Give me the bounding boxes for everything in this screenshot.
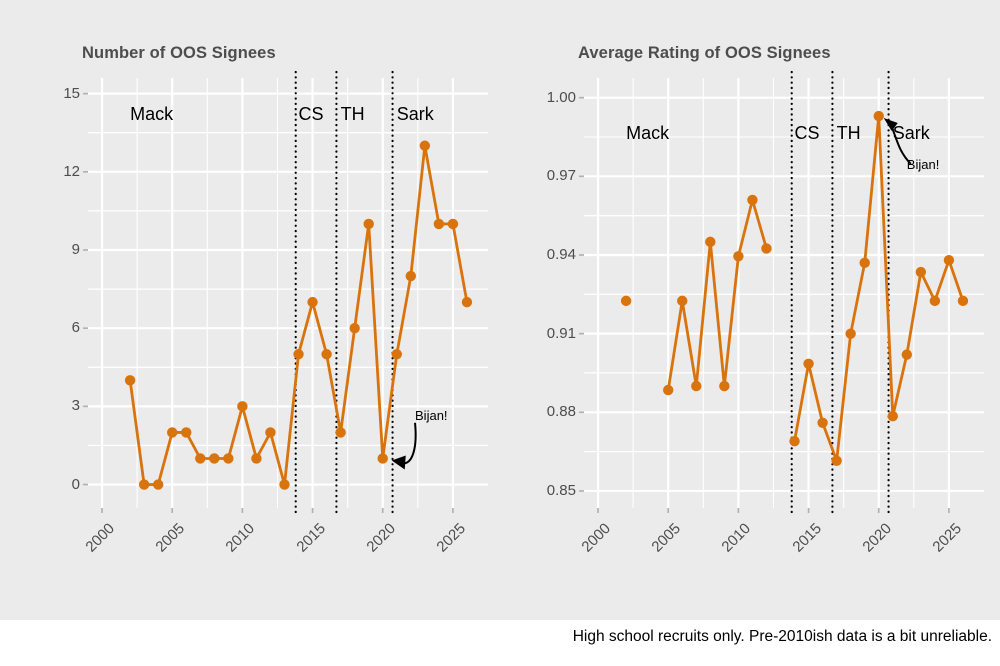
- y-tick-label: 0.88: [514, 403, 576, 420]
- y-tick-label: 15: [18, 85, 80, 102]
- data-point: [860, 258, 870, 268]
- data-point: [888, 411, 898, 421]
- data-point: [705, 237, 715, 247]
- data-point: [761, 243, 771, 253]
- y-tick-label: 0.85: [514, 482, 576, 499]
- y-tick-label: 0.91: [514, 325, 576, 342]
- data-point: [434, 219, 444, 229]
- data-point: [153, 479, 163, 489]
- data-point: [817, 418, 827, 428]
- data-point: [335, 427, 345, 437]
- data-point: [364, 219, 374, 229]
- right-panel-title: Average Rating of OOS Signees: [578, 44, 831, 63]
- data-point: [406, 271, 416, 281]
- y-tick-label: 12: [18, 163, 80, 180]
- data-point: [139, 479, 149, 489]
- data-point: [789, 436, 799, 446]
- figure-caption: High school recruits only. Pre-2010ish d…: [573, 628, 1000, 646]
- data-point: [420, 141, 430, 151]
- data-point: [916, 267, 926, 277]
- data-point: [462, 297, 472, 307]
- y-tick-label: 0: [18, 476, 80, 493]
- era-label-th: TH: [341, 104, 365, 125]
- era-label-sark: Sark: [397, 104, 434, 125]
- data-point: [902, 349, 912, 359]
- data-point: [747, 195, 757, 205]
- data-point: [237, 401, 247, 411]
- data-point: [691, 381, 701, 391]
- data-point: [930, 296, 940, 306]
- data-point: [944, 255, 954, 265]
- data-point: [223, 453, 233, 463]
- data-point: [279, 479, 289, 489]
- y-tick-label: 3: [18, 397, 80, 414]
- data-point: [831, 456, 841, 466]
- data-point: [958, 296, 968, 306]
- data-point: [265, 427, 275, 437]
- data-point: [845, 328, 855, 338]
- data-point: [719, 381, 729, 391]
- data-point: [448, 219, 458, 229]
- data-point: [125, 375, 135, 385]
- data-point: [392, 349, 402, 359]
- data-point: [803, 359, 813, 369]
- data-point: [181, 427, 191, 437]
- era-label-mack: Mack: [626, 123, 669, 144]
- annotation-label: Bijan!: [415, 408, 448, 423]
- data-point: [195, 453, 205, 463]
- data-point: [621, 296, 631, 306]
- y-tick-label: 6: [18, 319, 80, 336]
- data-point: [874, 111, 884, 121]
- annotation-label: Bijan!: [907, 157, 940, 172]
- data-point: [321, 349, 331, 359]
- y-tick-label: 0.94: [514, 246, 576, 263]
- data-point: [251, 453, 261, 463]
- era-label-th: TH: [837, 123, 861, 144]
- era-label-cs: CS: [795, 123, 820, 144]
- data-point: [307, 297, 317, 307]
- left-panel-title: Number of OOS Signees: [82, 44, 276, 63]
- data-point: [677, 296, 687, 306]
- data-point: [293, 349, 303, 359]
- era-label-cs: CS: [299, 104, 324, 125]
- y-tick-label: 9: [18, 241, 80, 258]
- left-panel-plot: [88, 78, 488, 508]
- era-label-sark: Sark: [893, 123, 930, 144]
- era-label-mack: Mack: [130, 104, 173, 125]
- data-point: [209, 453, 219, 463]
- data-point: [663, 385, 673, 395]
- data-point: [378, 453, 388, 463]
- data-point: [167, 427, 177, 437]
- data-point: [349, 323, 359, 333]
- y-tick-label: 0.97: [514, 167, 576, 184]
- figure-root: Number of OOS Signees 03691215 200020052…: [0, 0, 1000, 666]
- y-tick-label: 1.00: [514, 89, 576, 106]
- data-point: [733, 251, 743, 261]
